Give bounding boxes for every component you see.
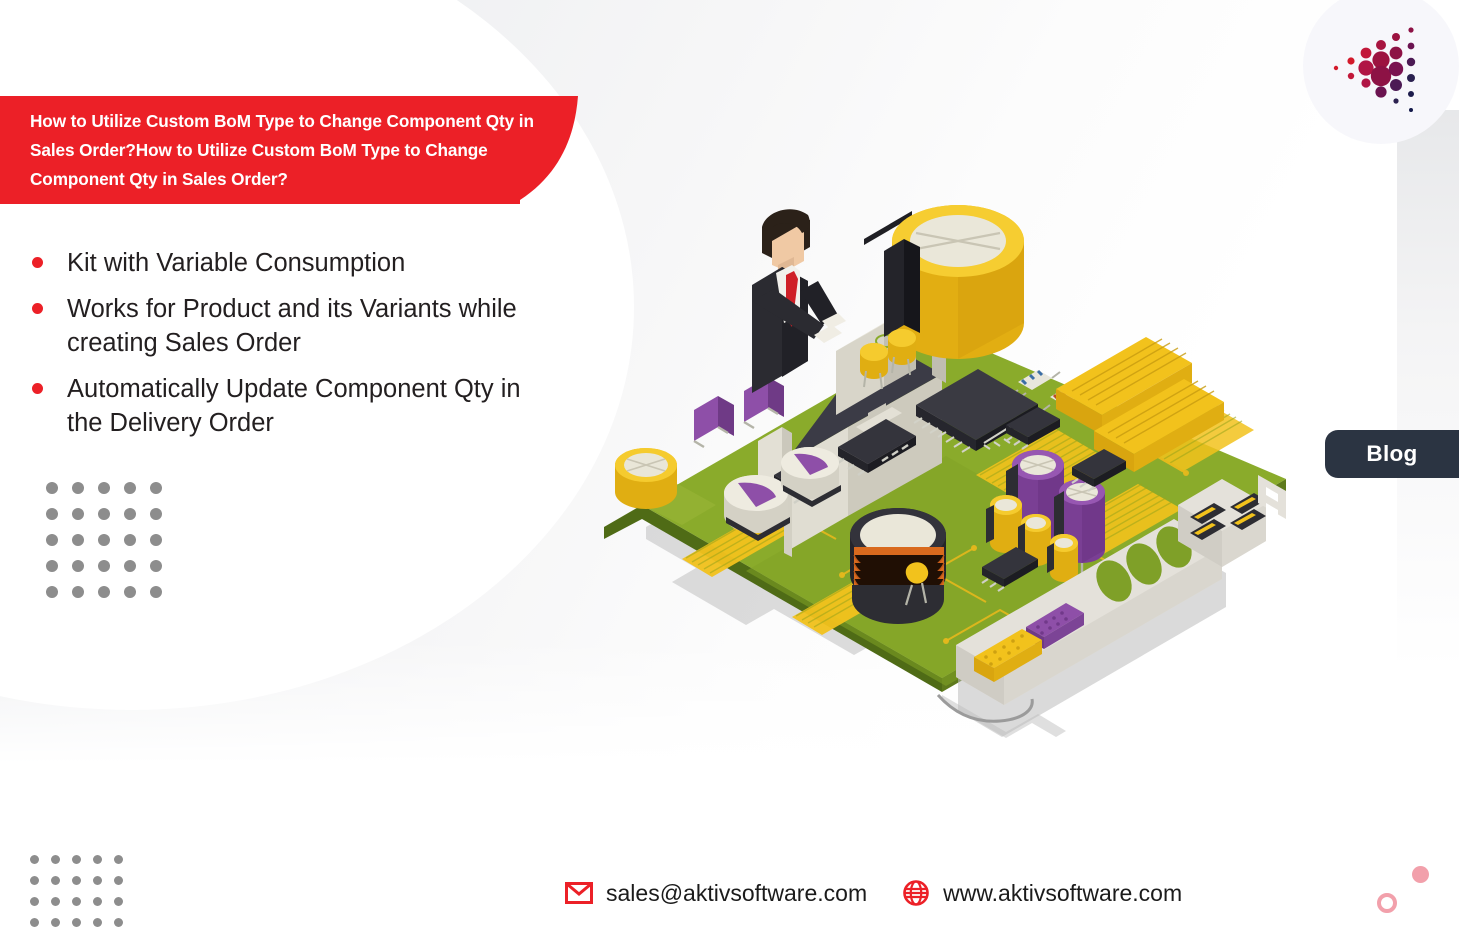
grid-dot bbox=[93, 918, 102, 927]
poster-canvas: How to Utilize Custom BoM Type to Change… bbox=[0, 0, 1459, 938]
grid-dot bbox=[150, 482, 162, 494]
globe-icon bbox=[901, 878, 931, 908]
decorative-pink-dot bbox=[1412, 866, 1429, 883]
list-item-label: Kit with Variable Consumption bbox=[67, 246, 405, 280]
list-item: Kit with Variable Consumption bbox=[26, 246, 556, 280]
list-item: Works for Product and its Variants while… bbox=[26, 292, 556, 360]
grid-dot bbox=[124, 586, 136, 598]
list-item: Automatically Update Component Qty in th… bbox=[26, 372, 556, 440]
grid-dot bbox=[98, 560, 110, 572]
grid-dot bbox=[150, 508, 162, 520]
footer-email-label: sales@aktivsoftware.com bbox=[606, 880, 867, 907]
grid-dot bbox=[124, 534, 136, 546]
grid-dot bbox=[93, 876, 102, 885]
grid-dot bbox=[150, 586, 162, 598]
grid-dot bbox=[51, 918, 60, 927]
grid-dot bbox=[72, 855, 81, 864]
grid-dot bbox=[114, 918, 123, 927]
grid-dot bbox=[46, 560, 58, 572]
grid-dot bbox=[30, 918, 39, 927]
decorative-dot-grid-left bbox=[46, 482, 176, 612]
decorative-dot-grid-bottom bbox=[30, 855, 135, 938]
grid-dot bbox=[72, 586, 84, 598]
decorative-pink-ring bbox=[1377, 893, 1397, 913]
grid-dot bbox=[150, 560, 162, 572]
grid-dot bbox=[98, 534, 110, 546]
grid-dot bbox=[124, 482, 136, 494]
aktiv-software-logo-icon bbox=[1330, 20, 1434, 116]
grid-dot bbox=[72, 897, 81, 906]
footer-email[interactable]: sales@aktivsoftware.com bbox=[564, 878, 867, 908]
grid-dot bbox=[72, 508, 84, 520]
blog-badge[interactable]: Blog bbox=[1325, 430, 1459, 478]
grid-dot bbox=[114, 855, 123, 864]
footer-contact-bar: sales@aktivsoftware.com www.aktivsoftwar… bbox=[564, 878, 1182, 908]
grid-dot bbox=[46, 534, 58, 546]
footer-website[interactable]: www.aktivsoftware.com bbox=[901, 878, 1182, 908]
grid-dot bbox=[98, 482, 110, 494]
grid-dot bbox=[51, 897, 60, 906]
bullet-dot-icon bbox=[32, 383, 43, 394]
page-title: How to Utilize Custom BoM Type to Change… bbox=[30, 107, 558, 194]
grid-dot bbox=[30, 855, 39, 864]
grid-dot bbox=[114, 897, 123, 906]
grid-dot bbox=[93, 897, 102, 906]
grid-dot bbox=[46, 586, 58, 598]
blog-badge-label: Blog bbox=[1366, 441, 1417, 467]
list-item-label: Works for Product and its Variants while… bbox=[67, 292, 556, 360]
bullet-dot-icon bbox=[32, 303, 43, 314]
grid-dot bbox=[98, 586, 110, 598]
grid-dot bbox=[72, 876, 81, 885]
grid-dot bbox=[114, 876, 123, 885]
grid-dot bbox=[72, 534, 84, 546]
grid-dot bbox=[72, 482, 84, 494]
grid-dot bbox=[124, 560, 136, 572]
list-item-label: Automatically Update Component Qty in th… bbox=[67, 372, 556, 440]
title-banner: How to Utilize Custom BoM Type to Change… bbox=[0, 96, 582, 204]
grid-dot bbox=[93, 855, 102, 864]
grid-dot bbox=[124, 508, 136, 520]
grid-dot bbox=[30, 897, 39, 906]
feature-bullet-list: Kit with Variable Consumption Works for … bbox=[26, 246, 556, 452]
grid-dot bbox=[72, 560, 84, 572]
grid-dot bbox=[46, 482, 58, 494]
grid-dot bbox=[98, 508, 110, 520]
footer-website-label: www.aktivsoftware.com bbox=[943, 880, 1182, 907]
grid-dot bbox=[72, 918, 81, 927]
isometric-circuit-board-illustration bbox=[586, 175, 1326, 775]
background-right-band bbox=[1397, 110, 1459, 670]
envelope-icon bbox=[564, 878, 594, 908]
grid-dot bbox=[150, 534, 162, 546]
grid-dot bbox=[46, 508, 58, 520]
bullet-dot-icon bbox=[32, 257, 43, 268]
grid-dot bbox=[51, 855, 60, 864]
grid-dot bbox=[30, 876, 39, 885]
grid-dot bbox=[51, 876, 60, 885]
